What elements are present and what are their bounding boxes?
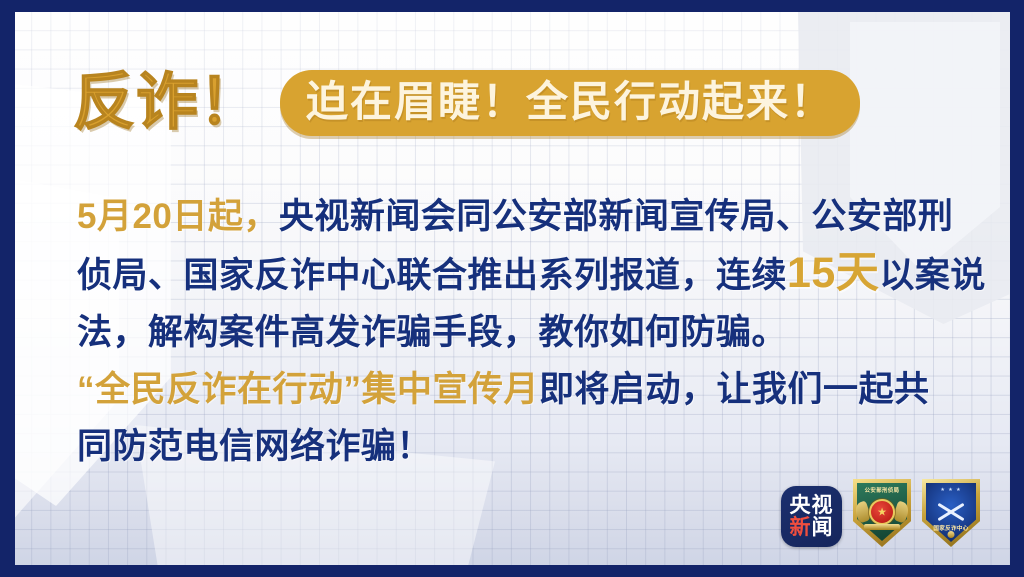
cctv-logo-char-wen: 闻 — [812, 516, 834, 539]
police-badge-emblem-icon — [869, 499, 895, 525]
body-line-2-segment-2: 15天 — [787, 249, 879, 297]
body-line-4: “全民反诈在行动”集中宣传月即将启动，让我们一起共 — [77, 361, 964, 418]
poster-canvas: 反诈！ 迫在眉睫！全民行动起来！ 5月20日起，央视新闻会同公安部新闻宣传局、公… — [15, 12, 1010, 565]
body-line-4-segment-1: “全民反诈在行动”集中宣传月 — [77, 370, 539, 409]
headline-badge-pill: 迫在眉睫！全民行动起来！ — [280, 70, 860, 136]
body-line-2: 侦局、国家反诈中心联合推出系列报道，连续15天以案说 — [77, 245, 964, 304]
body-line-5: 同防范电信网络诈骗！ — [77, 418, 964, 475]
cctv-logo-line1: 央视 — [790, 495, 834, 516]
police-criminal-investigation-badge: 公安部刑侦局 — [853, 479, 911, 547]
antifraud-badge-bottom-dot-icon — [948, 531, 955, 538]
body-line-1-segment-1: 5月20日起， — [77, 197, 279, 236]
antifraud-badge-stars-icon: ★ ★ ★ — [922, 487, 980, 493]
body-line-3-segment-1: 法，解构案件高发诈骗手段，教你如何防骗。 — [77, 313, 787, 352]
body-paragraph: 5月20日起，央视新闻会同公安部新闻宣传局、公安部刑侦局、国家反诈中心联合推出系… — [77, 188, 964, 475]
logo-row: 央视 新闻 公安部刑侦局 ★ ★ ★ 国家反诈中心 — [781, 479, 980, 547]
body-line-1-segment-2: 央视新闻会同公安部新闻宣传局、公安部刑 — [279, 197, 954, 236]
body-line-1: 5月20日起，央视新闻会同公安部新闻宣传局、公安部刑 — [77, 188, 964, 245]
cctv-news-logo: 央视 新闻 — [781, 486, 842, 547]
headline-main-text: 反诈！ — [73, 72, 262, 134]
national-anti-fraud-center-badge: ★ ★ ★ 国家反诈中心 — [922, 479, 980, 547]
police-badge-top-text: 公安部刑侦局 — [853, 486, 911, 494]
cctv-logo-line2: 新闻 — [790, 517, 834, 538]
police-badge-base-bar — [864, 524, 900, 530]
body-line-2-segment-1: 侦局、国家反诈中心联合推出系列报道，连续 — [77, 256, 787, 295]
body-line-2-segment-3: 以案说 — [879, 256, 986, 295]
cctv-logo-char-xin: 新 — [790, 516, 812, 539]
headline: 反诈！ 迫在眉睫！全民行动起来！ — [73, 70, 860, 136]
antifraud-badge-x-icon — [936, 503, 966, 521]
body-line-3: 法，解构案件高发诈骗手段，教你如何防骗。 — [77, 304, 964, 361]
body-line-5-segment-1: 同防范电信网络诈骗！ — [77, 427, 432, 466]
body-line-4-segment-2: 即将启动，让我们一起共 — [539, 370, 930, 409]
anti-fraud-campaign-poster: 反诈！ 迫在眉睫！全民行动起来！ 5月20日起，央视新闻会同公安部新闻宣传局、公… — [0, 0, 1024, 577]
